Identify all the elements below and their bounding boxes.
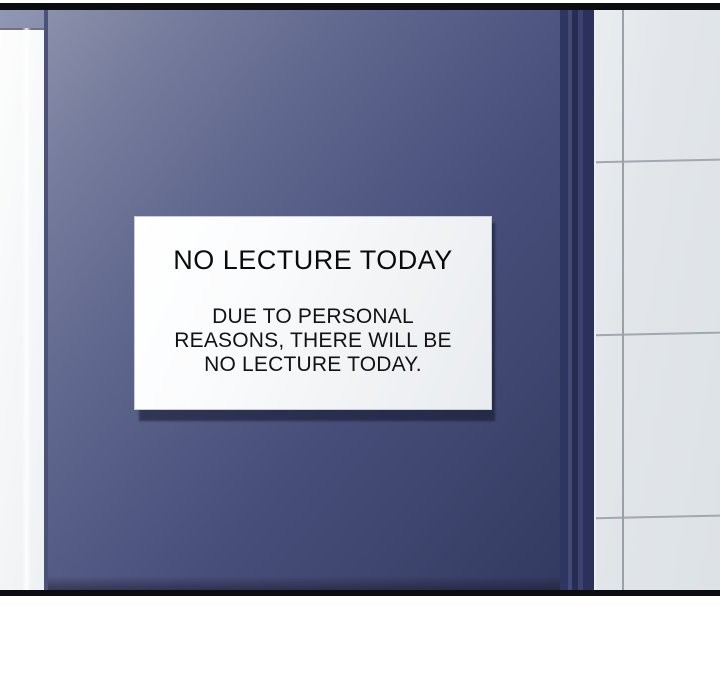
left-panel-highlight: [22, 28, 31, 592]
wall-left-top-fill: [0, 10, 46, 30]
panel-frame-bottom: [0, 590, 720, 596]
door-jamb-band-5: [583, 10, 594, 592]
notice-sign: NO LECTURE TODAY DUE TO PERSONAL REASONS…: [134, 216, 492, 410]
panel-artwork: NO LECTURE TODAY DUE TO PERSONAL REASONS…: [0, 0, 720, 597]
tile-seam-vertical: [622, 10, 624, 592]
notice-body-line-2: REASONS, THERE WILL BE: [174, 329, 451, 353]
panel-frame-top: [0, 3, 720, 10]
notice-title: NO LECTURE TODAY: [173, 247, 453, 274]
door-jamb-band-1: [560, 10, 568, 592]
panel-gutter: [0, 597, 720, 700]
comic-panel-scene: NO LECTURE TODAY DUE TO PERSONAL REASONS…: [0, 0, 720, 700]
notice-body-line-1: DUE TO PERSONAL: [174, 305, 451, 329]
notice-body-line-3: NO LECTURE TODAY.: [174, 353, 451, 377]
notice-body: DUE TO PERSONAL REASONS, THERE WILL BE N…: [174, 305, 451, 377]
